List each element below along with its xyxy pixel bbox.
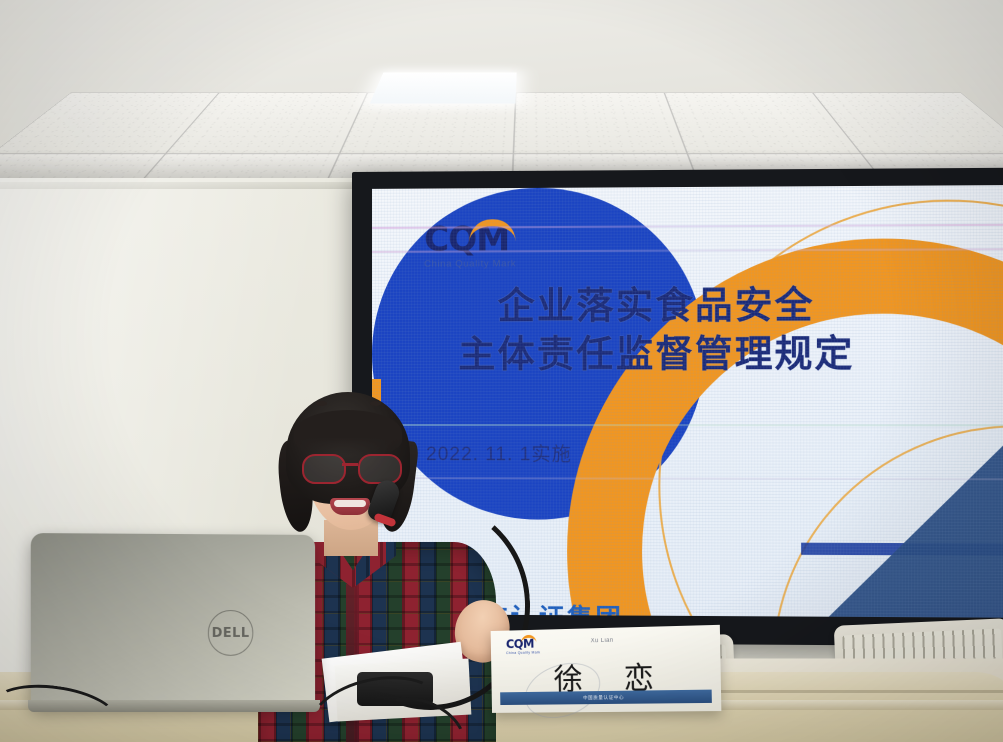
eye-right bbox=[370, 401, 381, 406]
placard-logo-tagline: China Quality Mark bbox=[506, 650, 540, 655]
photo-scene: CQM China Quality Mark 企业落实食品安全 主体责任监督管理… bbox=[0, 0, 1003, 742]
slide-title-line-2: 主体责任监督管理规定 bbox=[418, 330, 896, 379]
slide-title-line-1: 企业落实食品安全 bbox=[418, 281, 896, 331]
glasses-bridge bbox=[342, 463, 358, 466]
placard-band-text: 中国质量认证中心 bbox=[583, 694, 624, 700]
cqm-tagline: China Quality Mark bbox=[424, 258, 545, 270]
eye-left bbox=[316, 401, 327, 406]
teeth bbox=[334, 500, 366, 507]
eyeglasses bbox=[302, 454, 400, 480]
placard-cqm-logo: CQM China Quality Mark bbox=[506, 637, 541, 655]
dell-logo-icon: DELL bbox=[208, 610, 253, 656]
ceiling-light-panel bbox=[370, 72, 517, 103]
ceiling-tile bbox=[513, 93, 687, 154]
placard-bottom-band: 中国质量认证中心 bbox=[500, 690, 712, 705]
cqm-logo: CQM China Quality Mark bbox=[424, 222, 545, 270]
name-placard: CQM China Quality Mark Xu Lian 徐 恋 中国质量认… bbox=[491, 625, 722, 713]
lens-right bbox=[358, 454, 402, 484]
placard-english-line: Xu Lian bbox=[591, 638, 614, 645]
hair-fringe bbox=[294, 410, 402, 456]
mouth bbox=[330, 498, 370, 515]
lens-left bbox=[302, 454, 346, 484]
slide-title: 企业落实食品安全 主体责任监督管理规定 bbox=[418, 281, 896, 379]
laptop[interactable]: DELL bbox=[31, 533, 315, 707]
